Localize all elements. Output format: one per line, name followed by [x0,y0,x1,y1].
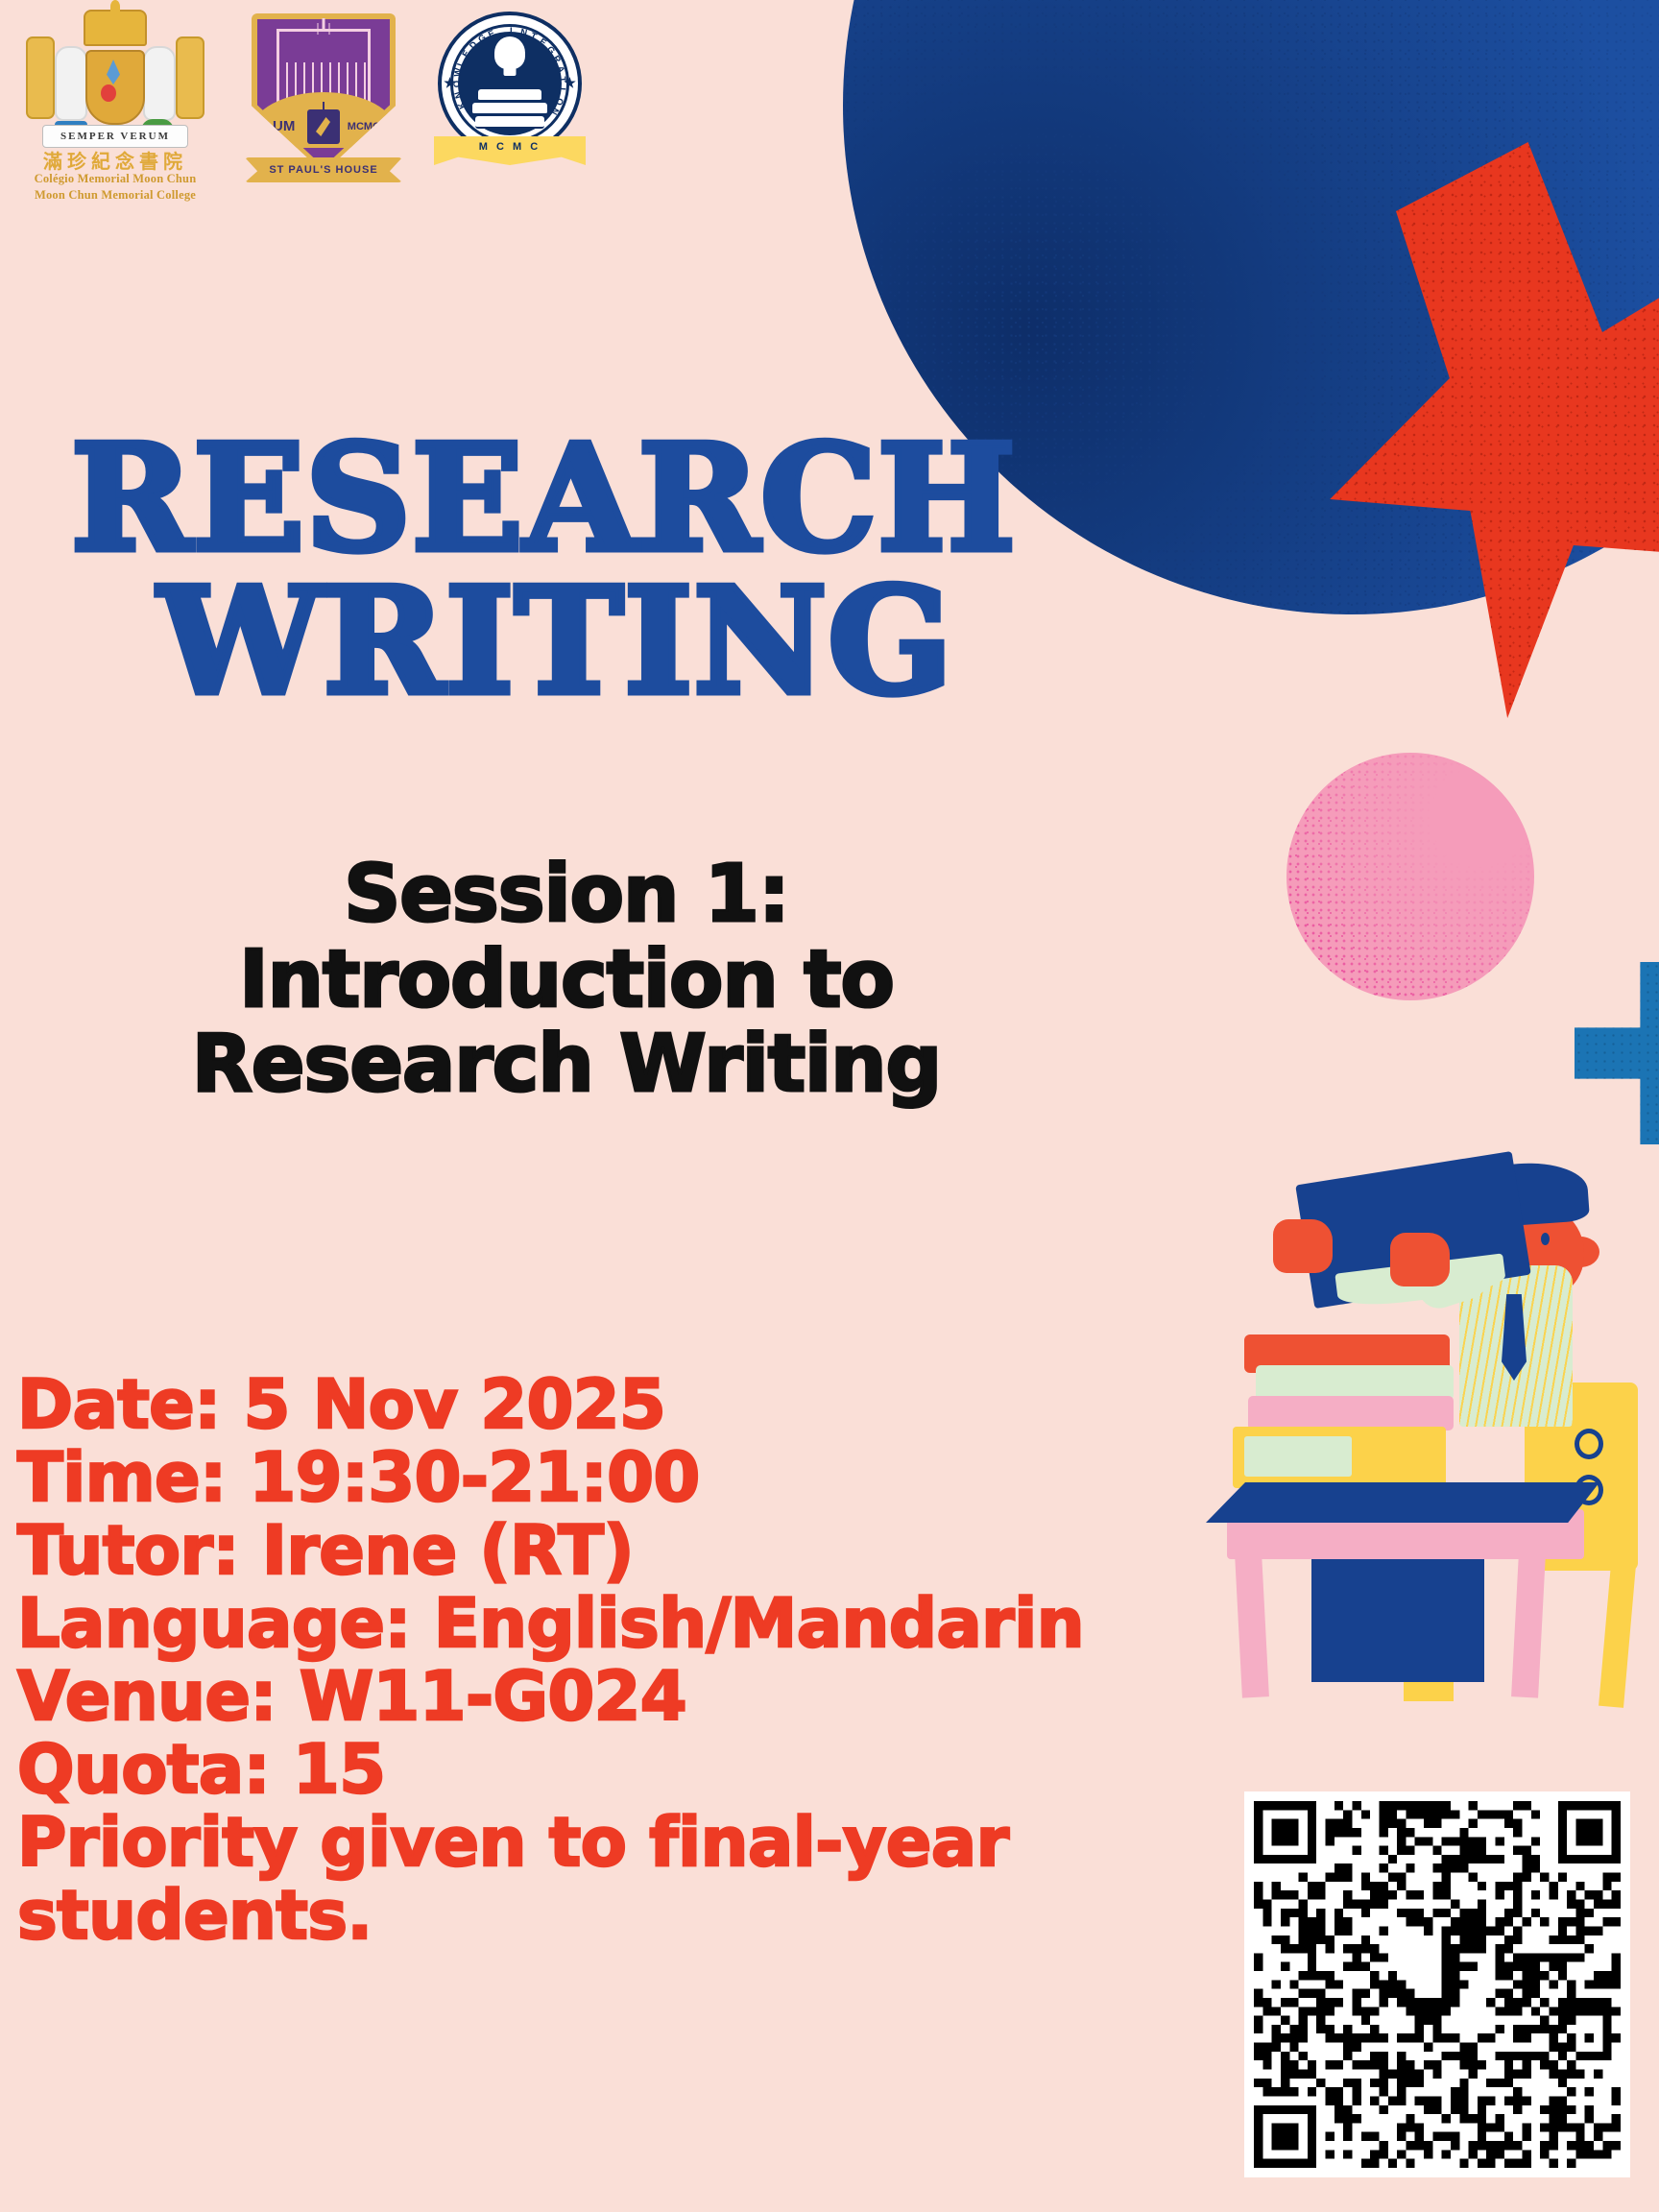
detail-venue: Venue: W11-G024 [17,1661,1256,1734]
detail-date: Date: 5 Nov 2025 [17,1369,1256,1442]
knowledge-integration-badge-icon: KNOWLEDGE INTEGRATION [438,12,582,156]
mcmc-ribbon: M C M C [434,136,586,165]
knowledge-integration-arc-text: KNOWLEDGE INTEGRATION [442,15,578,152]
detail-quota: Quota: 15 [17,1734,1256,1807]
title-line-1: RESEARCH [71,430,1108,565]
poster-canvas: SEMPER VERUM 滿珍紀念書院 Colégio Memorial Moo… [0,0,1659,2212]
red-star-decoration [1313,142,1659,718]
student-reading-at-desk-illustration [1198,1141,1649,1678]
subtitle-line-3: Research Writing [58,1022,1075,1108]
college-name-portuguese: Colégio Memorial Moon Chun [13,171,217,187]
logo-moon-chun-memorial-college: SEMPER VERUM 滿珍紀念書院 Colégio Memorial Moo… [13,8,217,203]
qr-code-image[interactable] [1254,1801,1621,2168]
session-details-list: Date: 5 Nov 2025 Time: 19:30-21:00 Tutor… [17,1369,1256,1953]
motto-text: SEMPER VERUM [60,131,170,142]
logo-knowledge-integration: KNOWLEDGE INTEGRATION M C M C [430,8,589,165]
title-line-2: WRITING [71,573,1108,709]
subtitle-line-1: Session 1: [58,853,1075,938]
page-title: RESEARCH WRITING [71,430,1108,709]
subtitle-line-2: Introduction to [58,938,1075,1023]
detail-time: Time: 19:30-21:00 [17,1442,1256,1515]
st-pauls-house-banner-text: ST PAUL'S HOUSE [269,164,377,176]
registration-qr-code[interactable] [1244,1791,1630,2177]
coat-of-arms-icon: SEMPER VERUM [24,8,206,142]
blue-cross-decoration [1575,962,1659,1144]
shield-label-um: UM [273,118,295,134]
shield-label-mcmc: MCMC [348,121,380,132]
detail-language: Language: English/Mandarin [17,1588,1256,1661]
detail-priority-note: Priority given to final-year students. [17,1807,1256,1953]
logo-st-pauls-house: UM MCMC ST PAUL'S HOUSE [238,8,409,182]
st-pauls-house-banner: ST PAUL'S HOUSE [245,157,402,182]
college-name-english: Moon Chun Memorial College [13,187,217,204]
detail-tutor: Tutor: Irene (RT) [17,1515,1256,1588]
mcmc-ribbon-text: M C M C [479,141,541,153]
logo-row: SEMPER VERUM 滿珍紀念書院 Colégio Memorial Moo… [13,8,589,203]
college-name-chinese: 滿珍紀念書院 [13,152,217,171]
st-pauls-shield-icon: UM MCMC [252,13,396,173]
session-subtitle: Session 1: Introduction to Research Writ… [58,853,1075,1108]
pink-circle-decoration [1286,753,1534,1000]
